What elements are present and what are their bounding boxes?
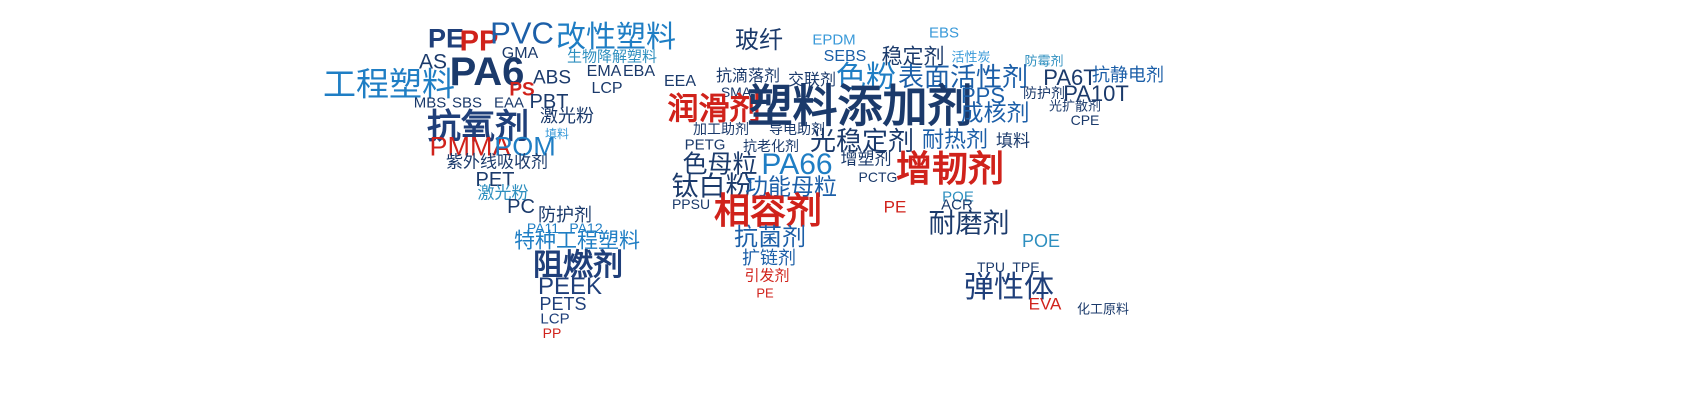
word-cloud-term[interactable]: 增塑剂 — [841, 152, 892, 169]
word-cloud-term[interactable]: PVC — [490, 18, 554, 49]
word-cloud-term[interactable]: EVA — [1029, 296, 1062, 313]
word-cloud-term[interactable]: EPDM — [812, 33, 855, 48]
word-cloud-term[interactable]: CPE — [1071, 113, 1100, 127]
word-cloud-term[interactable]: 抗菌剂 — [734, 225, 806, 249]
word-cloud-term[interactable]: EBS — [929, 26, 959, 41]
word-cloud-term[interactable]: 加工助剂 — [693, 123, 749, 137]
word-cloud-term[interactable]: PPSU — [672, 197, 710, 211]
word-cloud-term[interactable]: 耐磨剂 — [929, 211, 1010, 238]
word-cloud-canvas: PEPPPVCGMA改性塑料玻纤EPDMEBSAS生物降解塑料SEBS稳定剂活性… — [0, 0, 1707, 400]
word-cloud-term[interactable]: 增韧剂 — [896, 152, 1004, 188]
word-cloud-term[interactable]: PE — [756, 287, 773, 300]
word-cloud-term[interactable]: 填料 — [996, 134, 1030, 151]
word-cloud-term[interactable]: 化工原料 — [1077, 304, 1129, 317]
word-cloud-term[interactable]: PC — [507, 197, 535, 217]
word-cloud-term[interactable]: ABS — [533, 69, 571, 88]
word-cloud-term[interactable]: 扩链剂 — [742, 250, 796, 268]
word-cloud-term[interactable]: LCP — [591, 81, 622, 97]
word-cloud-term[interactable]: PE — [428, 26, 464, 53]
word-cloud-term[interactable]: 玻纤 — [735, 28, 783, 52]
word-cloud-term[interactable]: 成核剂 — [961, 103, 1030, 126]
word-cloud-term[interactable]: EBA — [623, 64, 655, 80]
word-cloud-term[interactable]: PP — [543, 326, 562, 340]
word-cloud-term[interactable]: EEA — [664, 74, 696, 90]
word-cloud-term[interactable]: PCTG — [859, 170, 898, 184]
word-cloud-term[interactable]: 引发剂 — [744, 269, 789, 284]
word-cloud-term[interactable]: POE — [1022, 232, 1060, 250]
word-cloud-term[interactable]: PE — [884, 199, 907, 216]
word-cloud-term[interactable]: EMA — [587, 64, 622, 80]
word-cloud-term[interactable]: 激光粉 — [540, 108, 594, 126]
